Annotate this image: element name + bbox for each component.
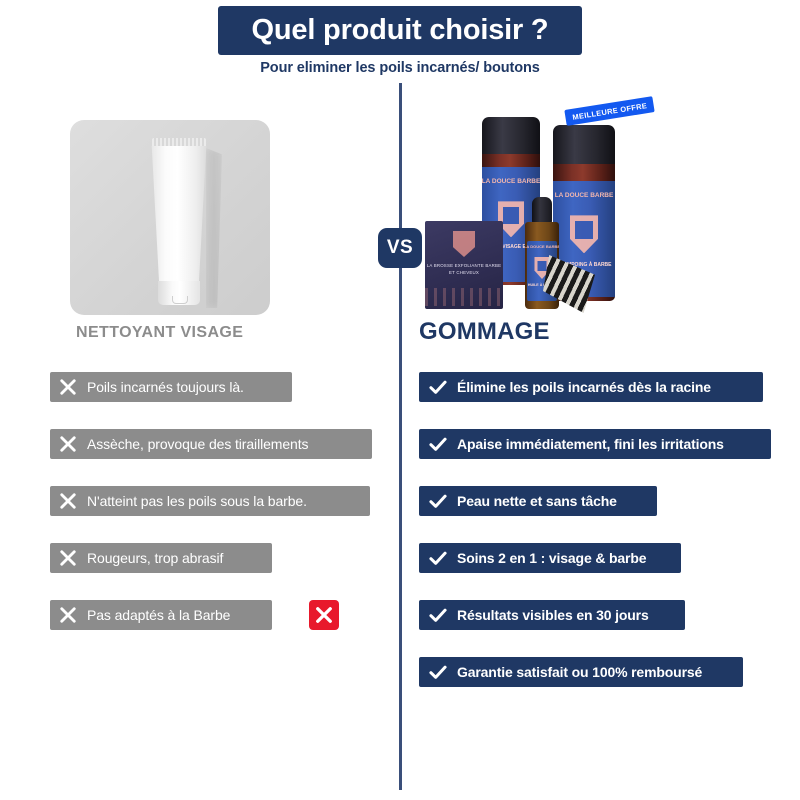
check-icon (428, 548, 448, 568)
feature-positive: Résultats visibles en 30 jours (419, 600, 685, 630)
check-icon (428, 434, 448, 454)
page-subtitle: Pour eliminer les poils incarnés/ bouton… (0, 60, 800, 76)
cosmetic-tube-icon (148, 138, 196, 304)
feature-negative: Assèche, provoque des tiraillements (50, 429, 372, 459)
x-icon (314, 605, 334, 625)
feature-label: Poils incarnés toujours là. (87, 379, 244, 395)
x-icon (58, 491, 78, 511)
feature-label: Pas adaptés à la Barbe (87, 607, 230, 623)
brand-name: LA DOUCE BARBE (555, 193, 614, 200)
red-x-badge (309, 600, 339, 630)
x-icon (58, 548, 78, 568)
tube-shadow (206, 148, 222, 308)
brand-name: LA DOUCE BARBE (525, 245, 559, 249)
feature-negative: Poils incarnés toujours là. (50, 372, 292, 402)
right-feature-list: Élimine les poils incarnés dès la racine… (419, 372, 779, 714)
bottle-cap (482, 117, 540, 157)
tube-body (148, 146, 210, 284)
list-item: Pas adaptés à la Barbe (50, 600, 380, 657)
title-banner: Quel produit choisir ? (218, 6, 582, 55)
feature-label: Peau nette et sans tâche (457, 493, 617, 509)
feature-positive: Soins 2 en 1 : visage & barbe (419, 543, 681, 573)
check-icon (428, 377, 448, 397)
feature-negative: Pas adaptés à la Barbe (50, 600, 272, 630)
check-icon (428, 662, 448, 682)
vs-label: VS (387, 237, 413, 259)
right-product-heading: GOMMAGE (419, 318, 550, 346)
dropper-cap (532, 197, 552, 223)
x-icon (58, 434, 78, 454)
feature-negative: N'atteint pas les poils sous la barbe. (50, 486, 370, 516)
left-product-heading: NETTOYANT VISAGE (76, 324, 243, 342)
feature-label: Rougeurs, trop abrasif (87, 550, 223, 566)
feature-positive: Garantie satisfait ou 100% remboursé (419, 657, 743, 687)
check-icon (428, 605, 448, 625)
feature-label: Apaise immédiatement, fini les irritatio… (457, 436, 724, 452)
check-icon (428, 491, 448, 511)
list-item: Poils incarnés toujours là. (50, 372, 380, 429)
check-icon (428, 548, 448, 568)
brush-box-caption: LA BROSSE EXFOLIANTE BARBE ET CHEVEUX (425, 263, 503, 276)
x-icon (58, 605, 78, 625)
brush-box-pattern (425, 288, 503, 306)
feature-positive: Élimine les poils incarnés dès la racine (419, 372, 763, 402)
brand-shield-icon (453, 231, 475, 257)
x-icon (58, 434, 78, 454)
list-item: N'atteint pas les poils sous la barbe. (50, 486, 380, 543)
tube-notch (172, 296, 188, 304)
x-icon (58, 491, 78, 511)
feature-label: Assèche, provoque des tiraillements (87, 436, 308, 452)
feature-positive: Apaise immédiatement, fini les irritatio… (419, 429, 771, 459)
left-product-image (70, 120, 270, 315)
feature-label: N'atteint pas les poils sous la barbe. (87, 493, 307, 509)
x-icon (58, 605, 78, 625)
vs-badge: VS (378, 228, 422, 268)
brand-name: LA DOUCE BARBE (482, 179, 540, 186)
brand-shield-icon (570, 215, 598, 253)
feature-negative: Rougeurs, trop abrasif (50, 543, 272, 573)
feature-label: Élimine les poils incarnés dès la racine (457, 379, 711, 395)
tube-cap (152, 138, 206, 147)
check-icon (428, 434, 448, 454)
check-icon (428, 605, 448, 625)
feature-label: Résultats visibles en 30 jours (457, 607, 649, 623)
feature-positive: Peau nette et sans tâche (419, 486, 657, 516)
bottle-cap (553, 125, 615, 167)
brush-box: LA BROSSE EXFOLIANTE BARBE ET CHEVEUX (425, 221, 503, 309)
check-icon (428, 491, 448, 511)
page-title: Quel produit choisir ? (252, 14, 549, 47)
header: Quel produit choisir ? Pour eliminer les… (0, 0, 800, 90)
x-icon (58, 377, 78, 397)
best-offer-badge: MEILLEURE OFFRE (564, 96, 655, 126)
feature-label: Garantie satisfait ou 100% remboursé (457, 664, 702, 680)
check-icon (428, 377, 448, 397)
right-product-image: LA BROSSE EXFOLIANTE BARBE ET CHEVEUX LA… (425, 105, 645, 317)
column-divider (399, 83, 402, 790)
left-feature-list: Poils incarnés toujours là.Assèche, prov… (50, 372, 380, 657)
x-icon (58, 548, 78, 568)
list-item: Assèche, provoque des tiraillements (50, 429, 380, 486)
x-icon (58, 377, 78, 397)
feature-label: Soins 2 en 1 : visage & barbe (457, 550, 646, 566)
check-icon (428, 662, 448, 682)
list-item: Rougeurs, trop abrasif (50, 543, 380, 600)
